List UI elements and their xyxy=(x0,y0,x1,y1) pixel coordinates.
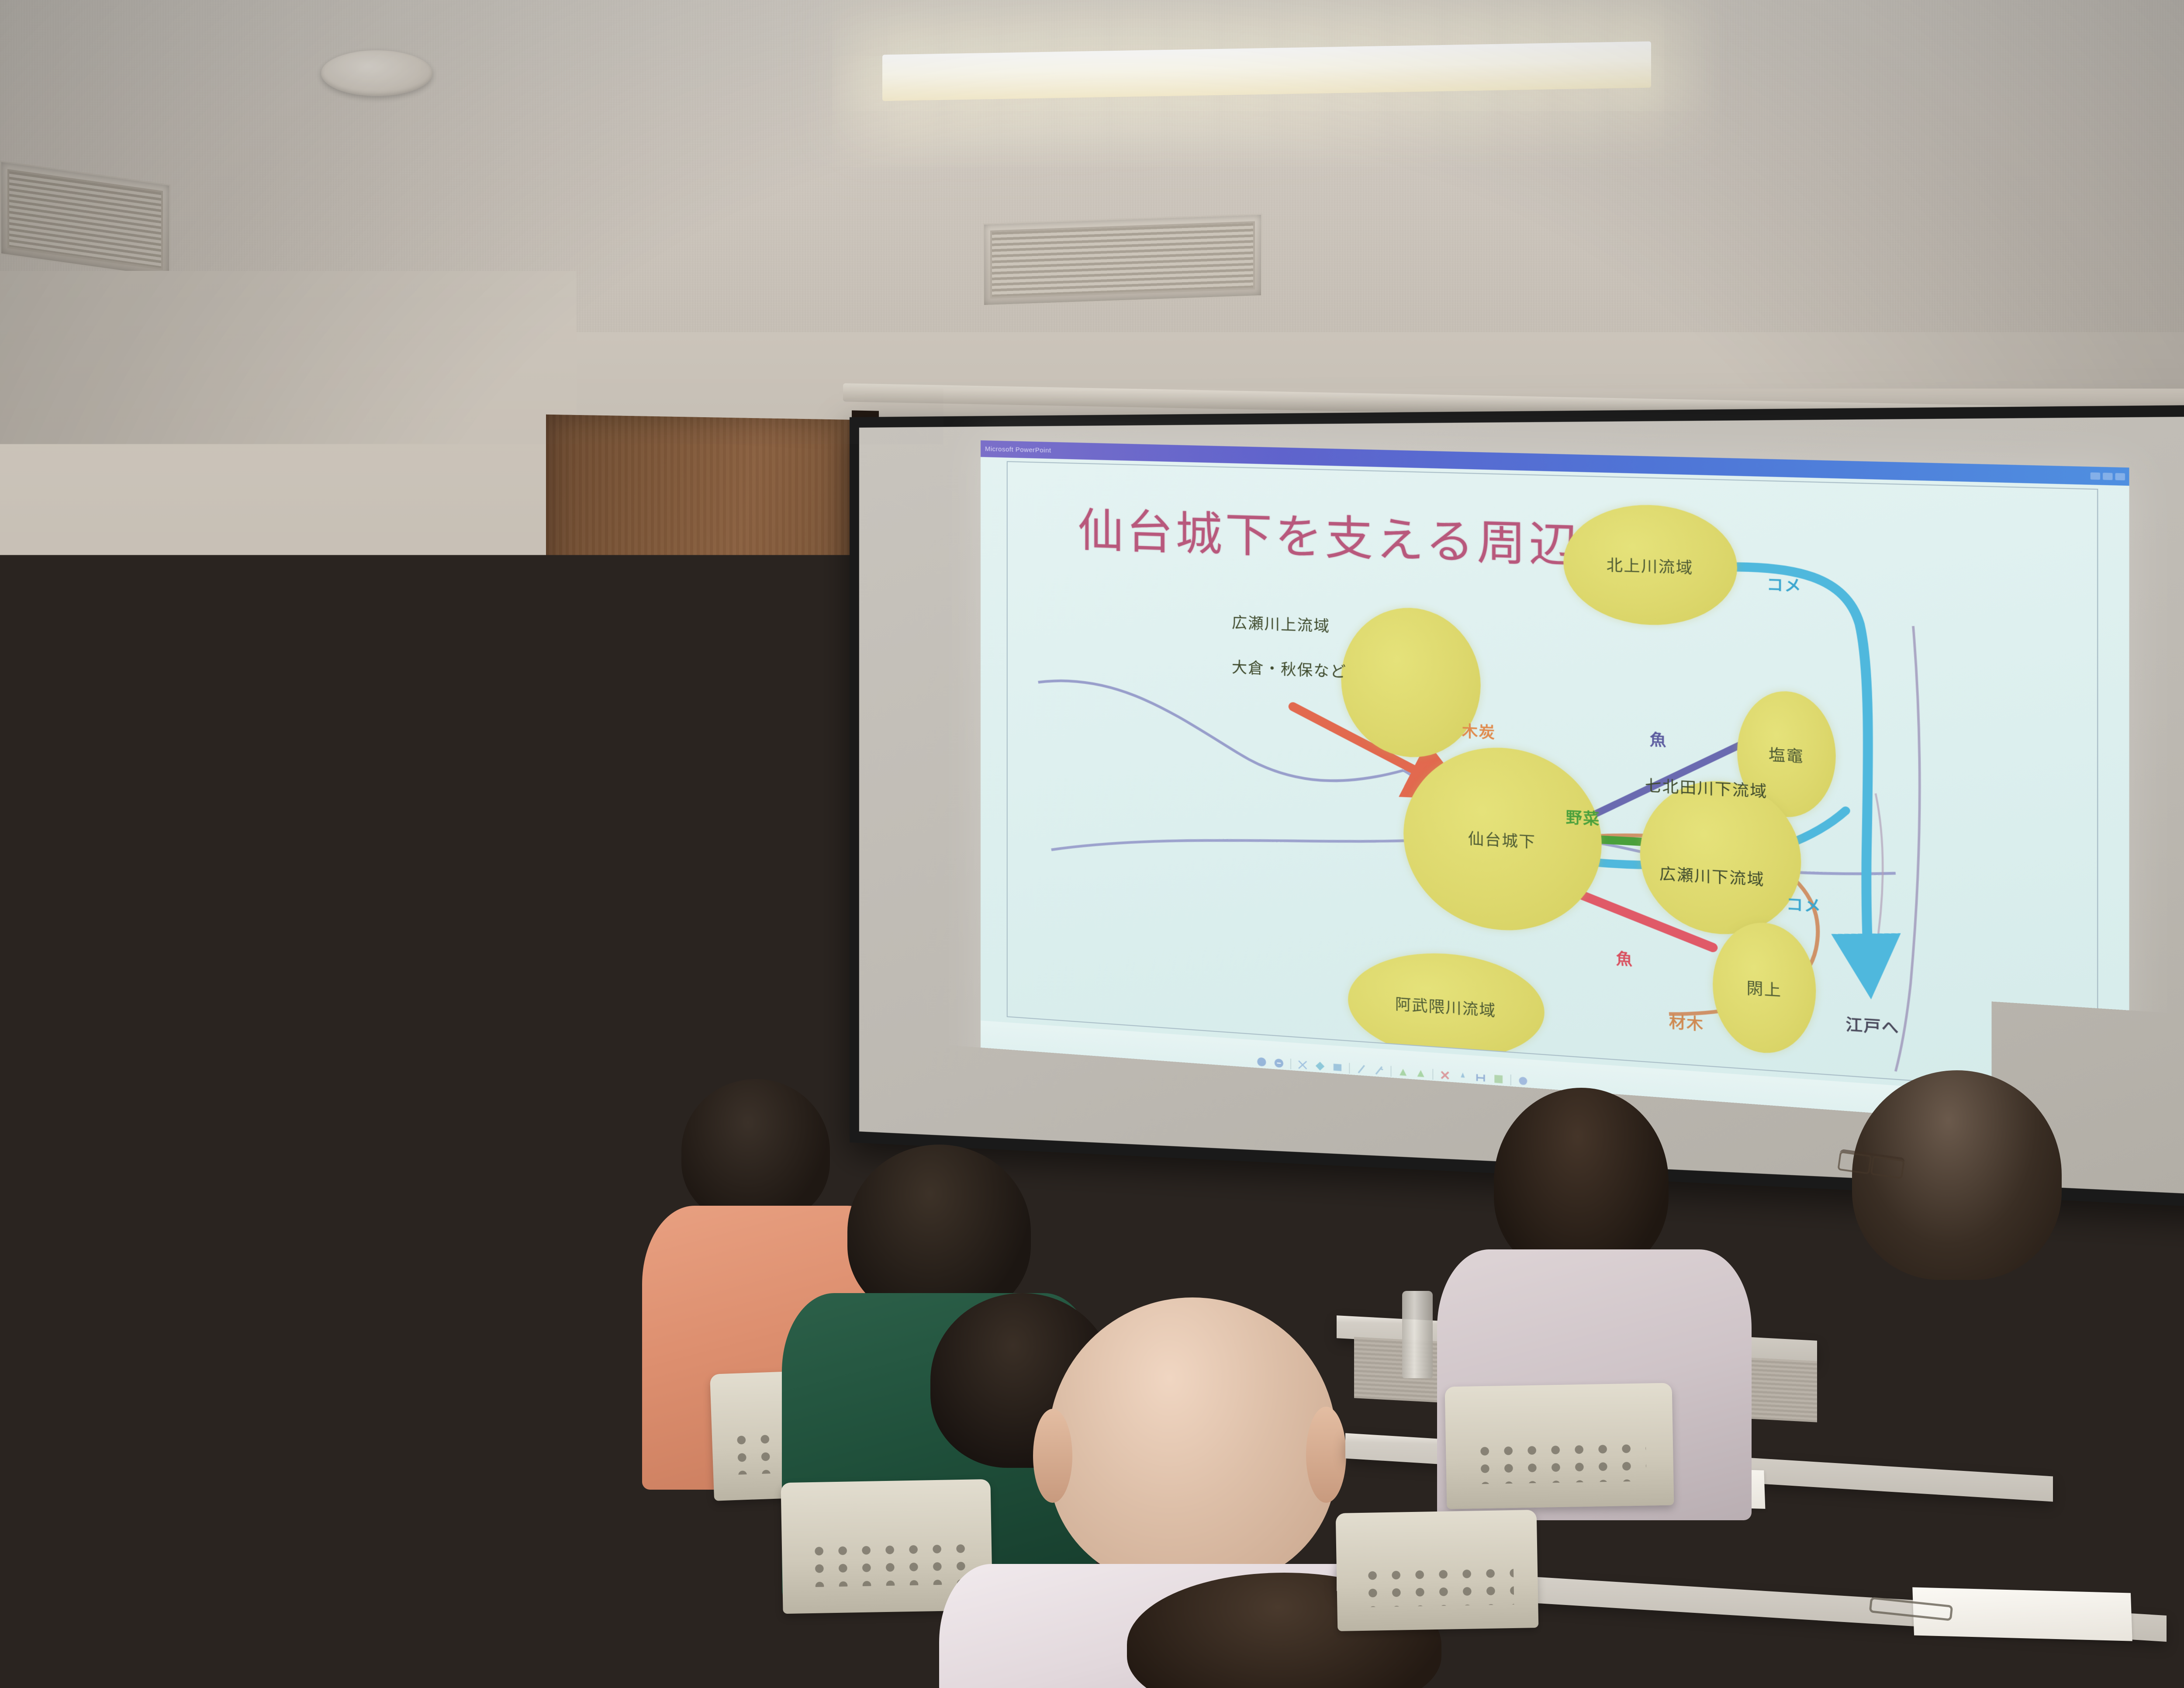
window-title: Microsoft PowerPoint xyxy=(985,445,1051,454)
wordart-icon[interactable] xyxy=(1415,1067,1427,1080)
toolbar-separator xyxy=(1290,1058,1291,1069)
rectangle-icon[interactable] xyxy=(1355,1063,1367,1076)
region-label-sendai: 仙台城下 xyxy=(1468,826,1536,852)
chair[interactable] xyxy=(1773,1496,2019,1623)
chair[interactable] xyxy=(1445,1383,1674,1509)
line-color-icon[interactable] xyxy=(1517,1075,1529,1087)
grid-icon[interactable] xyxy=(2067,1114,2080,1128)
flow-label-fish-shiogama: 魚 xyxy=(1650,727,1667,751)
textbox-icon[interactable] xyxy=(1397,1066,1409,1079)
flow-label-to-edo: 江戸へ xyxy=(1845,1012,1899,1038)
wood-wall-panel-left xyxy=(546,415,860,1193)
powerpoint-body: 仙台城下を支える周辺地域 xyxy=(981,457,2129,1148)
flow-label-timber: 材木 xyxy=(1669,1010,1704,1034)
table-leg xyxy=(70,1468,79,1616)
region-label-yuriage: 閖上 xyxy=(1746,975,1782,1000)
picture-icon[interactable] xyxy=(1475,1072,1487,1084)
chair[interactable] xyxy=(1336,1510,1539,1631)
chair-perforation xyxy=(1803,1553,1989,1598)
projector-stand-post xyxy=(2132,1374,2153,1505)
oval-icon[interactable] xyxy=(1373,1064,1385,1077)
region-label-shiogama: 塩竈 xyxy=(1769,742,1804,766)
ceiling-speaker-icon xyxy=(321,50,432,96)
flow-label-fish-yuriage: 魚 xyxy=(1616,946,1634,970)
attendee-head xyxy=(1494,1088,1669,1276)
maximize-icon[interactable] xyxy=(2103,472,2113,480)
attendee-body xyxy=(0,1280,118,1490)
attendee-ear xyxy=(1033,1409,1072,1503)
attendee-ear xyxy=(1306,1407,1346,1503)
flow-label-charcoal: 木炭 xyxy=(1462,719,1496,743)
table-leg xyxy=(664,1485,674,1669)
toolbar-separator xyxy=(1349,1063,1350,1074)
close-icon[interactable] xyxy=(2115,473,2125,480)
region-label-hirose-upper: 広瀬川上流域 xyxy=(1232,610,1330,636)
window-controls[interactable] xyxy=(2091,472,2129,481)
region-label-abukuma: 阿武隈川流域 xyxy=(1395,992,1496,1020)
attendee-head xyxy=(1048,1297,1337,1586)
flow-label-vegetables: 野菜 xyxy=(1566,805,1600,829)
arrow-icon[interactable] xyxy=(1331,1061,1343,1074)
line-icon[interactable] xyxy=(1314,1060,1326,1072)
diagram-icon[interactable] xyxy=(1439,1069,1451,1082)
fill-color-icon[interactable] xyxy=(1493,1073,1505,1086)
handout-paper xyxy=(550,1346,656,1370)
autoshapes-icon[interactable] xyxy=(1256,1056,1268,1069)
toolbar-separator xyxy=(1390,1066,1391,1077)
water-bottle[interactable] xyxy=(1402,1291,1433,1378)
ceiling-air-vent xyxy=(983,214,1262,306)
chair-perforation xyxy=(1361,1564,1514,1607)
minimize-icon[interactable] xyxy=(2091,472,2100,480)
slide-canvas[interactable]: 仙台城下を支える周辺地域 xyxy=(1007,461,2098,1094)
flow-label-rice-north: コメ xyxy=(1766,572,1802,596)
select-icon[interactable] xyxy=(1273,1057,1285,1069)
region-label-kitakami: 北上川流域 xyxy=(1607,552,1693,578)
lecture-room-scene: Microsoft PowerPoint 仙台城下を支える周辺地域 xyxy=(0,0,2184,1688)
chair-perforation xyxy=(1473,1439,1646,1484)
drawing-toolbar-left-group[interactable] xyxy=(1256,1056,1529,1087)
clipart-icon[interactable] xyxy=(1457,1070,1469,1083)
chair-perforation xyxy=(807,1540,967,1587)
attendee-head xyxy=(681,1079,830,1223)
rotate-icon[interactable] xyxy=(1297,1058,1309,1071)
glasses-icon xyxy=(252,1007,327,1024)
flow-label-rice-south: コメ xyxy=(1786,892,1821,917)
toolbar-separator xyxy=(1432,1069,1433,1080)
toolbar-separator xyxy=(1510,1075,1511,1086)
